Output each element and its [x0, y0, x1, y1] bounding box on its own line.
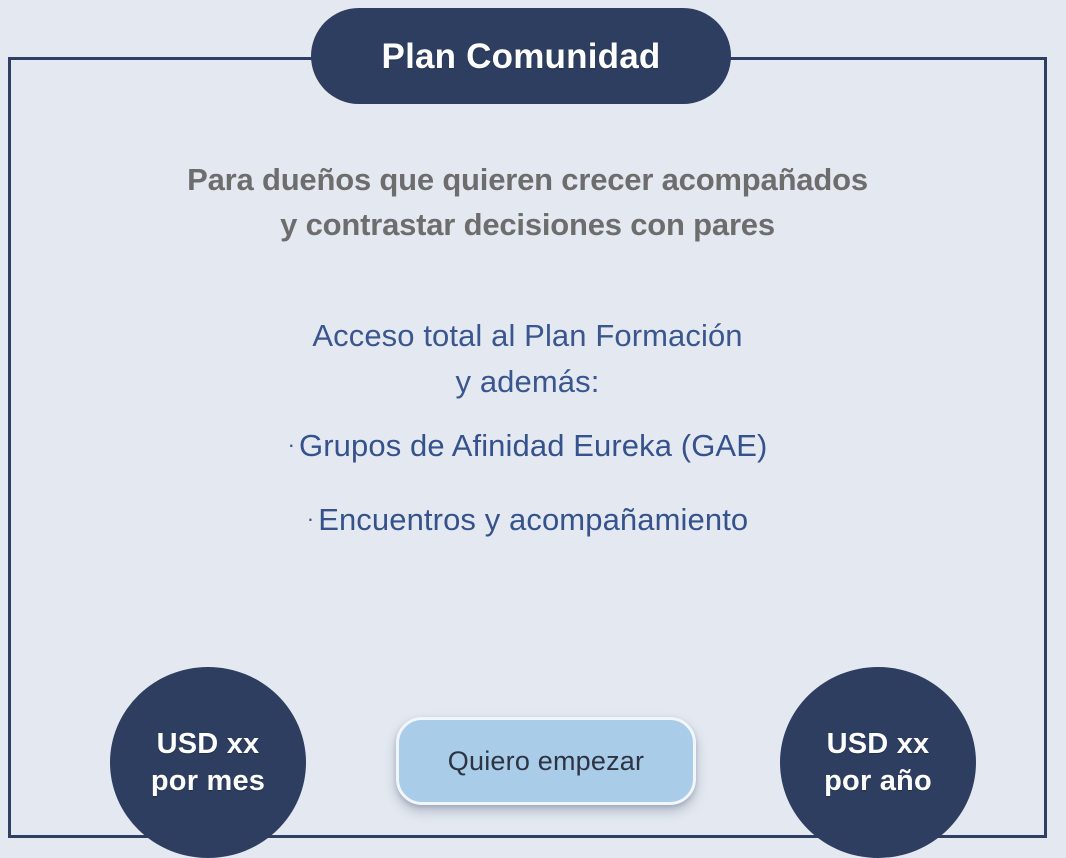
- plan-card-content: Para dueños que quieren crecer acompañad…: [11, 60, 1044, 835]
- start-now-button-label: Quiero empezar: [448, 746, 644, 777]
- price-yearly-amount: USD xx: [827, 726, 930, 763]
- list-item-label: Grupos de Afinidad Eureka (GAE): [299, 428, 767, 463]
- plan-subtitle-line-1: Para dueños que quieren crecer acompañad…: [11, 157, 1044, 202]
- plan-access-line-1: Acceso total al Plan Formación: [11, 313, 1044, 359]
- plan-subtitle: Para dueños que quieren crecer acompañad…: [11, 157, 1044, 247]
- plan-access-description: Acceso total al Plan Formación y además:: [11, 313, 1044, 405]
- list-item: ·Grupos de Afinidad Eureka (GAE): [11, 430, 1044, 461]
- plan-title-pill: Plan Comunidad: [311, 8, 731, 104]
- page-title: Plan Comunidad: [382, 39, 661, 74]
- price-badge-monthly: USD xx por mes: [110, 667, 306, 858]
- bullet-icon: ·: [307, 506, 314, 531]
- plan-subtitle-line-2: y contrastar decisiones con pares: [11, 202, 1044, 247]
- list-item: ·Encuentros y acompañamiento: [11, 504, 1044, 535]
- price-monthly-period: por mes: [151, 763, 265, 800]
- start-now-button[interactable]: Quiero empezar: [396, 717, 696, 805]
- price-monthly-amount: USD xx: [157, 726, 260, 763]
- bullet-icon: ·: [288, 432, 295, 457]
- plan-feature-list: ·Grupos de Afinidad Eureka (GAE) ·Encuen…: [11, 430, 1044, 578]
- list-item-label: Encuentros y acompañamiento: [318, 502, 748, 537]
- price-yearly-period: por año: [824, 763, 932, 800]
- price-badge-yearly: USD xx por año: [780, 667, 976, 858]
- plan-access-line-2: y además:: [11, 359, 1044, 405]
